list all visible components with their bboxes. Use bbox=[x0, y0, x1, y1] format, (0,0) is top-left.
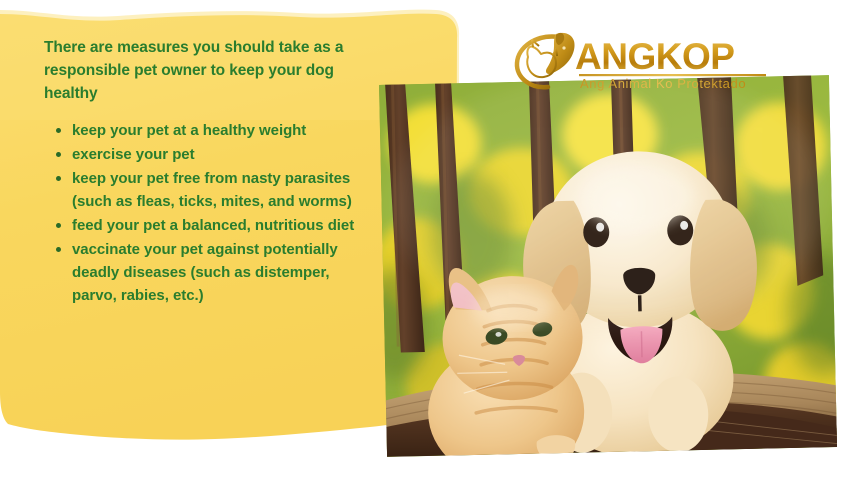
logo-wordmark: ANGKOP bbox=[575, 36, 734, 77]
list-item: exercise your pet bbox=[44, 143, 374, 166]
bullet-dot-icon bbox=[56, 223, 61, 228]
list-item: feed your pet a balanced, nutritious die… bbox=[44, 214, 374, 237]
bullet-dot-icon bbox=[56, 247, 61, 252]
list-item-label: feed your pet a balanced, nutritious die… bbox=[72, 217, 354, 234]
photo-frame bbox=[379, 75, 837, 457]
page-title: There are measures you should take as a … bbox=[44, 36, 374, 105]
puppy-and-kitten-photo bbox=[379, 75, 837, 457]
bullet-dot-icon bbox=[56, 176, 61, 181]
message-text-block: There are measures you should take as a … bbox=[44, 36, 374, 308]
list-item: keep your pet at a healthy weight bbox=[44, 119, 374, 142]
pet-care-tips-list: keep your pet at a healthy weight exerci… bbox=[44, 119, 374, 307]
angkop-logo: ANGKOP Ang Animal Ko Protektado bbox=[512, 26, 774, 92]
photo-illustration bbox=[379, 75, 837, 457]
bullet-dot-icon bbox=[56, 128, 61, 133]
list-item-label: keep your pet free from nasty parasites … bbox=[72, 170, 352, 210]
list-item-label: vaccinate your pet against potentially d… bbox=[72, 241, 338, 304]
list-item-label: keep your pet at a healthy weight bbox=[72, 122, 306, 139]
list-item: vaccinate your pet against potentially d… bbox=[44, 238, 374, 307]
poster-canvas: There are measures you should take as a … bbox=[0, 0, 847, 477]
list-item: keep your pet free from nasty parasites … bbox=[44, 167, 374, 213]
list-item-label: exercise your pet bbox=[72, 146, 195, 163]
logo-tagline: Ang Animal Ko Protektado bbox=[580, 76, 746, 91]
bullet-dot-icon bbox=[56, 152, 61, 157]
